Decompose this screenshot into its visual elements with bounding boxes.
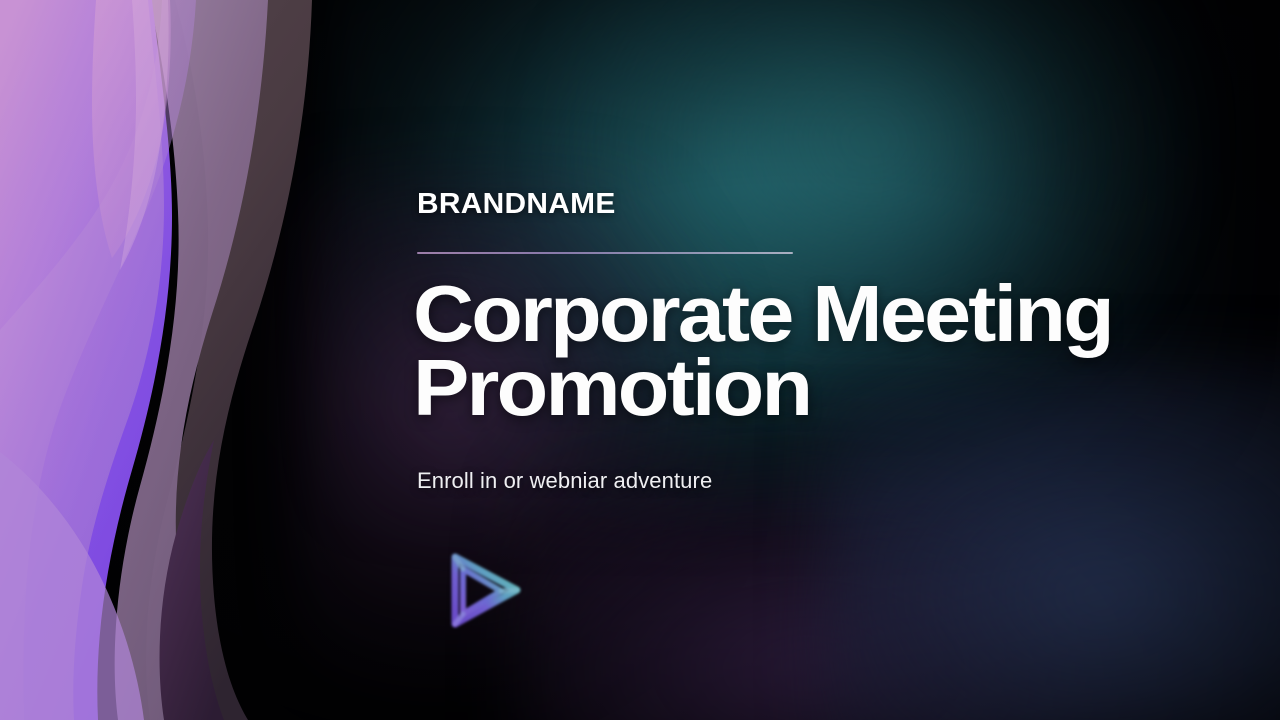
headline-line-2: Promotion — [413, 351, 1246, 425]
play-button[interactable] — [433, 542, 529, 638]
title-divider — [417, 252, 793, 254]
headline-line-1: Corporate Meeting — [413, 277, 1246, 351]
brand-name: BRANDNAME — [417, 190, 616, 219]
subtitle: Enroll in or webniar adventure — [417, 468, 712, 494]
play-triangle-icon — [433, 542, 529, 638]
page-title: Corporate Meeting Promotion — [413, 277, 1203, 426]
content-column: BRANDNAME Corporate Meeting Promotion En… — [417, 0, 1217, 720]
decorative-ribbon-artwork — [0, 0, 320, 720]
promo-slide: BRANDNAME Corporate Meeting Promotion En… — [0, 0, 1280, 720]
